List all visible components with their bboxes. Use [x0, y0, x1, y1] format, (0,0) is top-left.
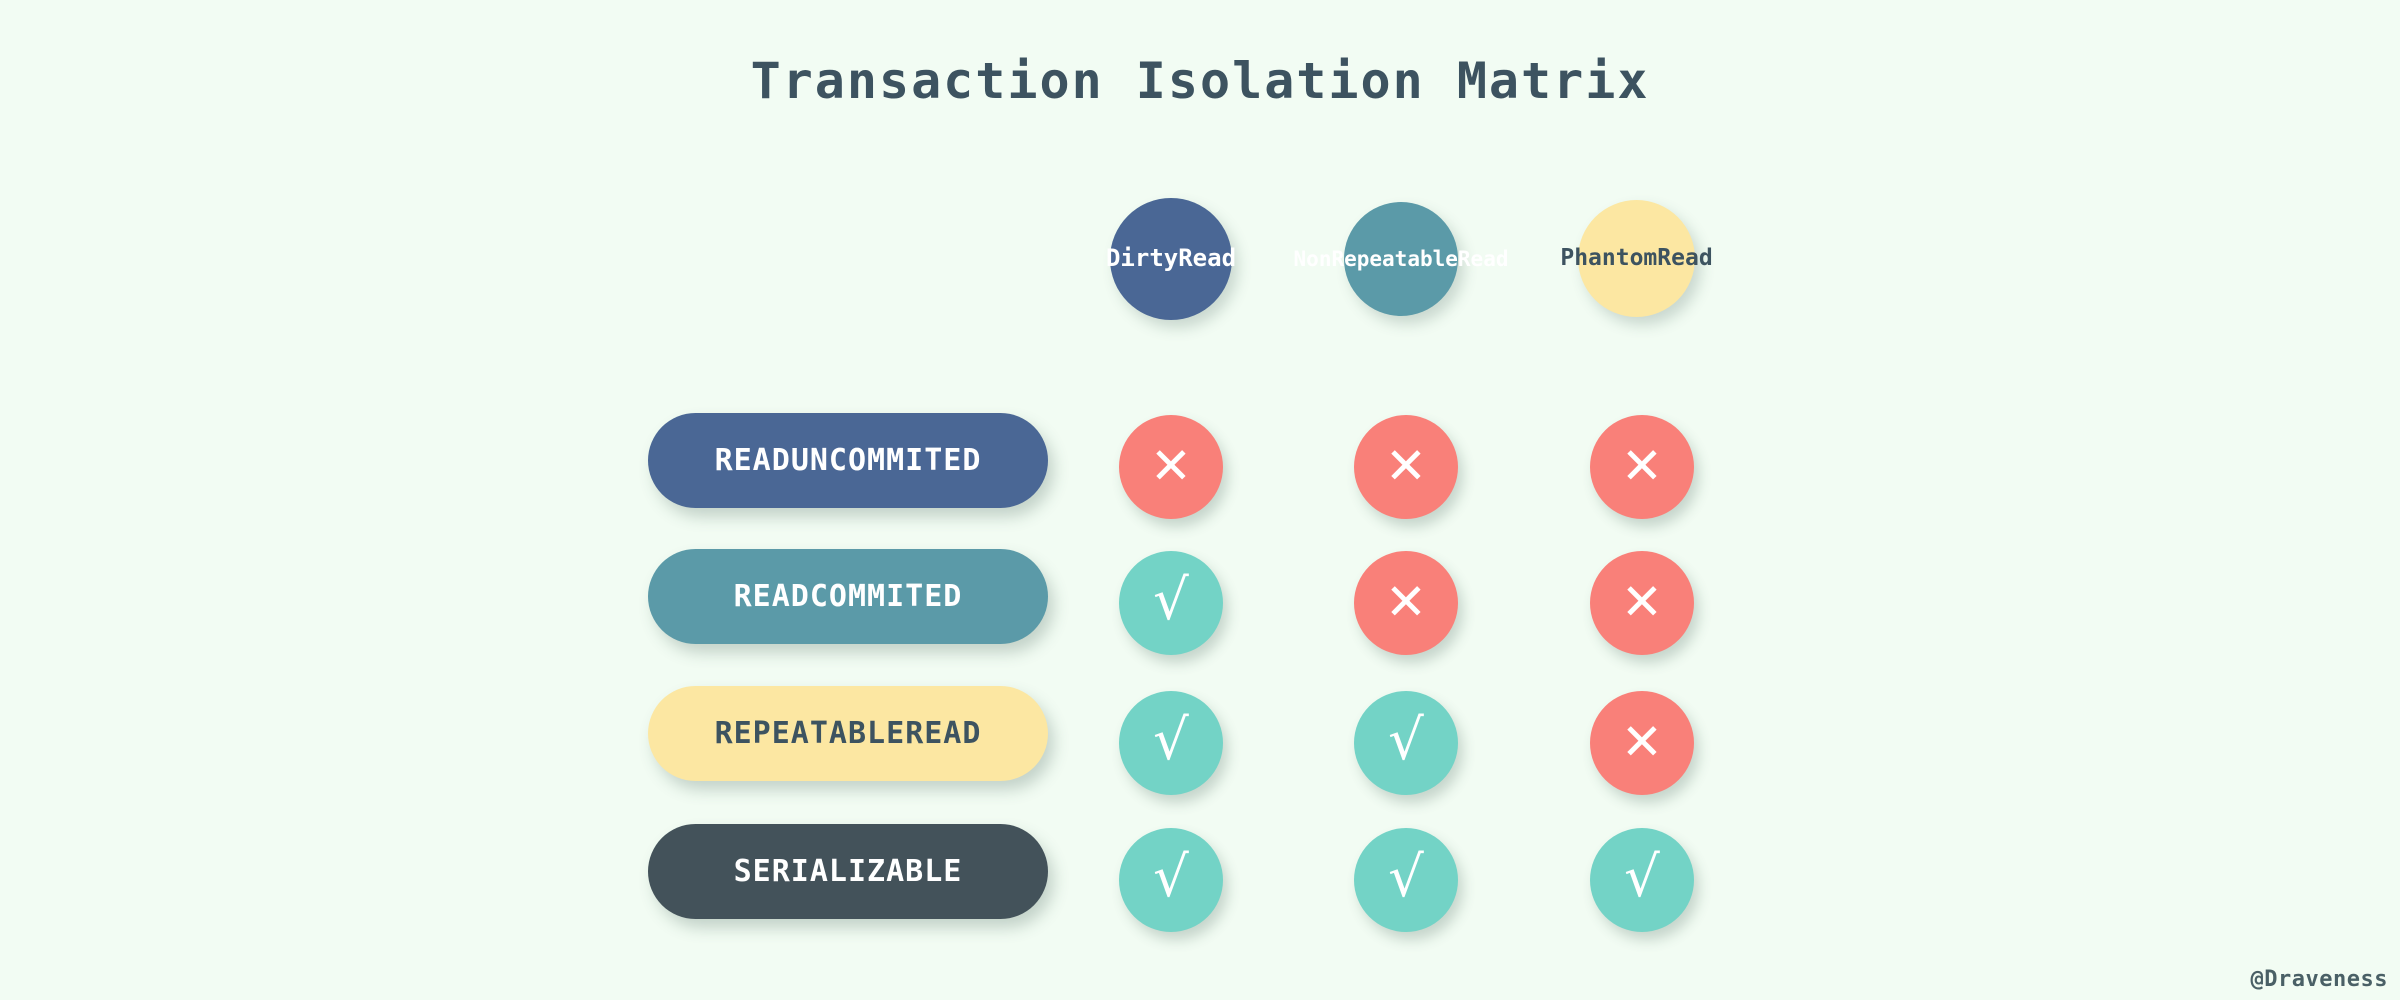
isolation-matrix: DirtyReadNonRepeatableReadPhantomReadREA… [0, 0, 2400, 1000]
check-icon: √ [1153, 850, 1189, 906]
cell-read-commited-dirty-read-check-icon: √ [1119, 551, 1223, 655]
check-icon: √ [1153, 573, 1189, 629]
text-line: Read [1178, 245, 1236, 273]
text-line: READ [734, 579, 810, 614]
text-line: READ [715, 443, 791, 478]
text-line: Non [1294, 247, 1332, 271]
check-icon: √ [1153, 713, 1189, 769]
cell-repeatable-read-non-repeatable-read-check-icon: √ [1354, 691, 1458, 795]
row-label-serializable: SERIALIZABLE [648, 824, 1048, 919]
cell-read-uncommited-non-repeatable-read-cross-icon: ✕ [1354, 415, 1458, 519]
row-label-repeatable-read: REPEATABLEREAD [648, 686, 1048, 781]
cell-read-commited-phantom-read-cross-icon: ✕ [1590, 551, 1694, 655]
cross-icon: ✕ [1385, 577, 1427, 627]
cell-read-uncommited-dirty-read-cross-icon: ✕ [1119, 415, 1223, 519]
row-label-read-uncommited: READUNCOMMITED [648, 413, 1048, 508]
cross-icon: ✕ [1621, 717, 1663, 767]
cross-icon: ✕ [1385, 441, 1427, 491]
text-line: Dirty [1106, 245, 1178, 273]
cell-repeatable-read-dirty-read-check-icon: √ [1119, 691, 1223, 795]
text-line: Read [1657, 245, 1712, 271]
row-label-read-commited: READCOMMITED [648, 549, 1048, 644]
cell-read-commited-non-repeatable-read-cross-icon: ✕ [1354, 551, 1458, 655]
text-line: COMMITED [810, 579, 963, 614]
cross-icon: ✕ [1621, 441, 1663, 491]
text-line: Phantom [1560, 245, 1657, 271]
watermark: @Draveness [2251, 967, 2388, 992]
column-header-dirty-read: DirtyRead [1110, 198, 1232, 320]
cell-read-uncommited-phantom-read-cross-icon: ✕ [1590, 415, 1694, 519]
cross-icon: ✕ [1621, 577, 1663, 627]
text-line: REPEATABLE [715, 716, 906, 751]
check-icon: √ [1624, 850, 1660, 906]
check-icon: √ [1388, 713, 1424, 769]
text-line: Read [1458, 247, 1509, 271]
check-icon: √ [1388, 850, 1424, 906]
column-header-non-repeatable-read: NonRepeatableRead [1344, 202, 1458, 316]
text-line: UNCOMMITED [791, 443, 982, 478]
column-header-phantom-read: PhantomRead [1578, 200, 1695, 317]
cell-serializable-phantom-read-check-icon: √ [1590, 828, 1694, 932]
text-line: READ [905, 716, 981, 751]
cell-repeatable-read-phantom-read-cross-icon: ✕ [1590, 691, 1694, 795]
text-line: SERIALIZABLE [734, 854, 963, 889]
cell-serializable-dirty-read-check-icon: √ [1119, 828, 1223, 932]
text-line: Repeatable [1331, 247, 1457, 271]
cross-icon: ✕ [1150, 441, 1192, 491]
cell-serializable-non-repeatable-read-check-icon: √ [1354, 828, 1458, 932]
